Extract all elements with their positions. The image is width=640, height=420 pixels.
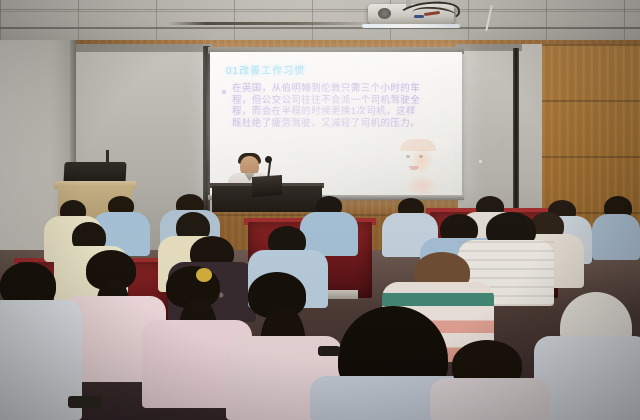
mobile-phone[interactable] [68, 396, 102, 408]
slide-title: 01改善工作习惯 [226, 62, 376, 76]
photo-canvas: 01改善工作习惯 在英国，从伯明翰到伦敦只需三个小时的车程，但公交公司往往不会派… [0, 0, 640, 420]
ceiling-light-strip [362, 24, 460, 28]
projector-lens-icon [378, 8, 391, 19]
slide-infant-eye [406, 155, 410, 158]
ceiling-grid-line [0, 27, 640, 29]
slide-infant-eye [419, 155, 423, 158]
mobile-phone[interactable] [318, 346, 340, 356]
projector-cable-blue [414, 15, 424, 18]
chair-knob [196, 268, 212, 282]
ceiling-grid-line [0, 9, 640, 10]
slide-body-text: 在英国，从伯明翰到伦敦只需三个小时的车程，但公交公司往往不会派一个司机驾驶全程，… [232, 83, 422, 129]
door-handle-icon[interactable] [499, 137, 505, 147]
slide-bullet-icon [222, 90, 226, 94]
slide-infant-hair [400, 139, 436, 151]
wall-fixture [479, 160, 482, 163]
presenter-laptop [252, 175, 282, 197]
ceiling-cable [168, 22, 378, 25]
microphone-icon [265, 156, 272, 163]
wall-header-trim [76, 44, 212, 52]
